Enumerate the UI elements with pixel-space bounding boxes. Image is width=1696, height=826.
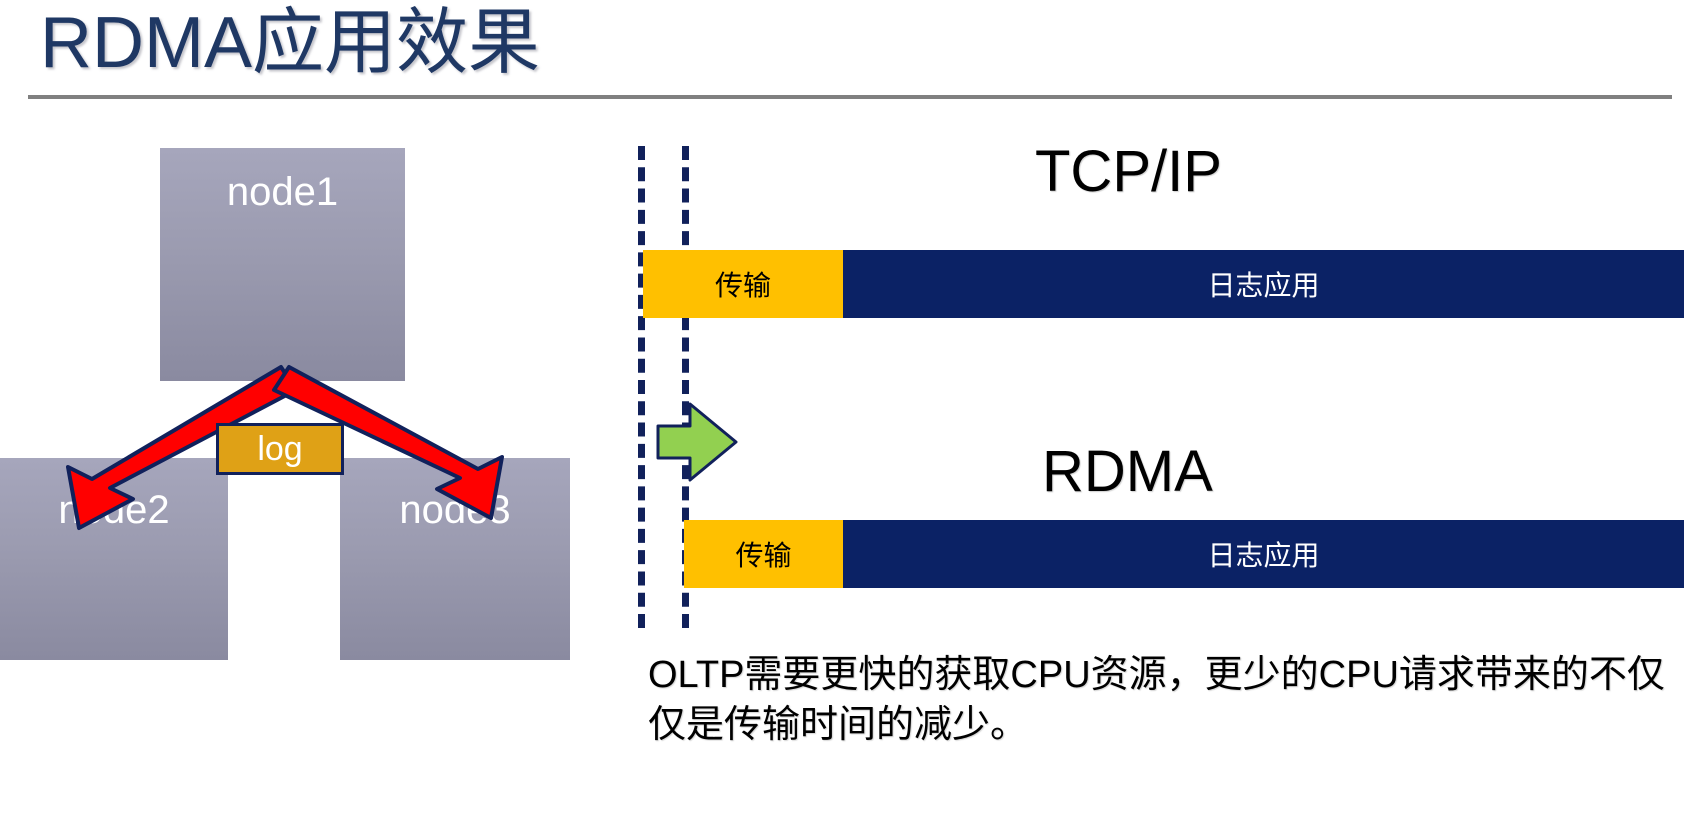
- segment-label: 传输: [715, 264, 771, 304]
- caption-text: OLTP需要更快的获取CPU资源，更少的CPU请求带来的不仅仅是传输时间的减少。: [648, 650, 1668, 750]
- log-label: log: [257, 430, 302, 468]
- log-box[interactable]: log: [216, 423, 344, 475]
- bar-segment-log-app-rdma: 日志应用: [843, 520, 1684, 588]
- segment-label: 日志应用: [1207, 264, 1319, 304]
- bar-segment-log-app-tcpip: 日志应用: [843, 250, 1684, 318]
- bar-segment-transfer-rdma: 传输: [684, 520, 843, 588]
- protocol-label-tcpip: TCP/IP: [1035, 140, 1222, 204]
- segment-label: 传输: [735, 534, 791, 574]
- green-arrow-icon: [648, 400, 742, 484]
- bar-row-tcpip[interactable]: 传输 日志应用: [643, 250, 1684, 318]
- title-divider: [28, 95, 1672, 99]
- protocol-label-rdma: RDMA: [1042, 440, 1213, 504]
- dashed-guide-left: [638, 146, 645, 628]
- bar-row-rdma[interactable]: 传输 日志应用: [684, 520, 1684, 588]
- replication-arrows: [0, 130, 600, 660]
- bar-segment-transfer-tcpip: 传输: [643, 250, 843, 318]
- segment-label: 日志应用: [1207, 534, 1319, 574]
- node-topology-diagram: node1 node2 node3 log: [0, 130, 600, 660]
- page-title: RDMA应用效果: [40, 0, 540, 88]
